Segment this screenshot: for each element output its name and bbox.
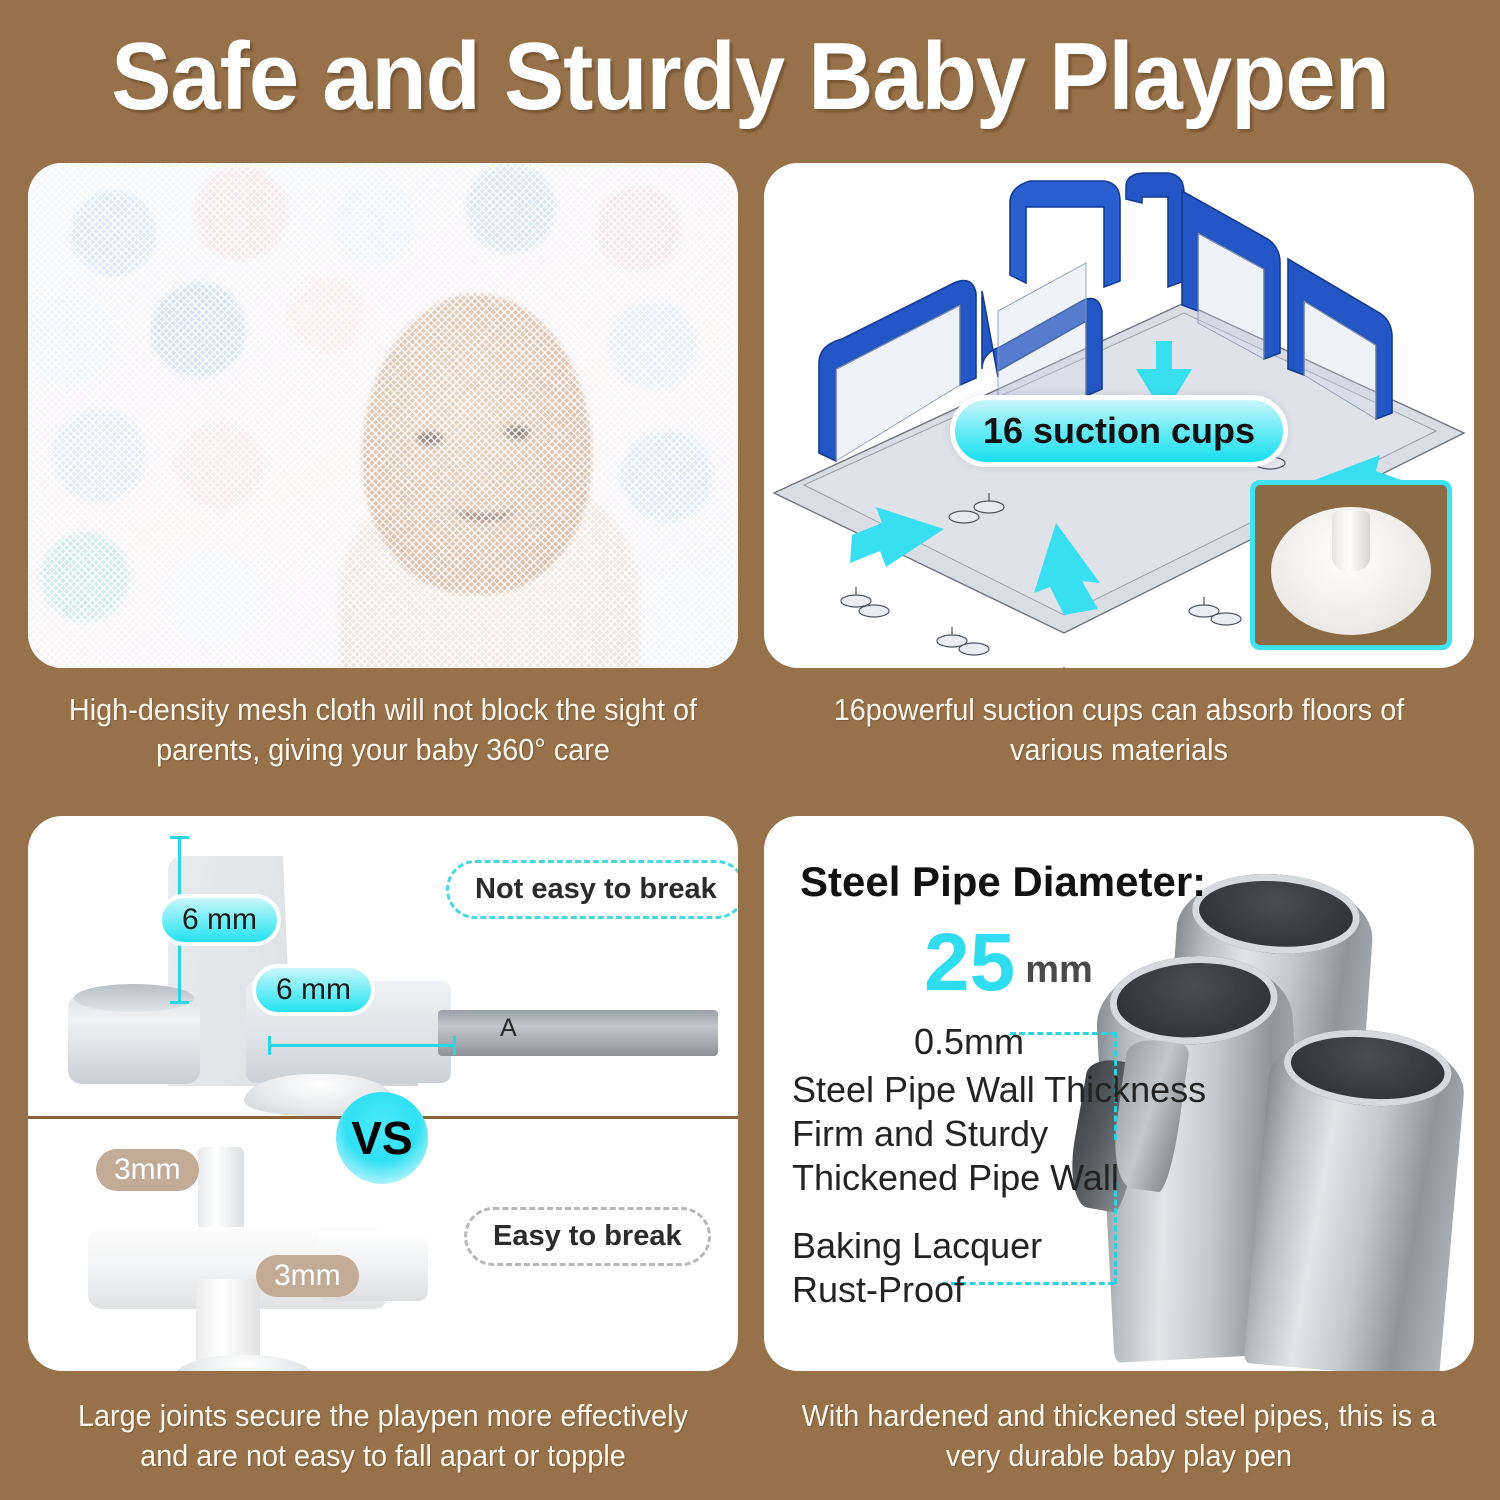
small-joint-suction-cup — [174, 1355, 314, 1371]
measure-cap-right — [453, 1036, 456, 1055]
badge-3mm-vertical: 3mm — [96, 1149, 199, 1191]
wall-thickness-value: 0.5mm — [914, 1021, 1024, 1063]
caption-suction: 16powerful suction cups can absorb floor… — [789, 690, 1449, 769]
caption-mesh: High-density mesh cloth will not block t… — [53, 690, 713, 769]
measure-cap-top — [170, 836, 189, 839]
small-joint-stem-top — [198, 1147, 244, 1239]
pipe-bore-front — [1281, 1023, 1455, 1112]
measure-cap-left — [268, 1036, 271, 1055]
leader-line-wall-h — [1010, 1032, 1116, 1035]
badge-3mm-horizontal: 3mm — [256, 1255, 359, 1297]
finish-line-2: Rust-Proof — [792, 1268, 1042, 1312]
diameter-value-row: 25 mm — [924, 924, 1093, 1002]
steel-pipe-segment: A — [438, 1010, 718, 1056]
playpen-isometric-diagram: 16 suction cups — [764, 163, 1474, 668]
panel-mesh-photo — [28, 163, 738, 668]
vs-badge: VS — [336, 1092, 428, 1184]
badge-6mm-vertical: 6 mm — [158, 894, 281, 946]
mesh-photo-image — [28, 163, 738, 668]
steel-pipe-heading: Steel Pipe Diameter: — [800, 858, 1206, 906]
large-joint-cap — [68, 994, 200, 1084]
wall-line-1: Steel Pipe Wall Thickness — [792, 1068, 1206, 1112]
pipe-bore-left — [1107, 952, 1280, 1049]
mesh-net-overlay — [28, 163, 738, 668]
measure-cap-bottom — [170, 1001, 189, 1004]
diameter-unit: mm — [1025, 949, 1093, 992]
wall-line-3: Thickened Pipe Wall — [792, 1156, 1206, 1200]
finish-line-1: Baking Lacquer — [792, 1224, 1042, 1268]
wall-line-2: Firm and Sturdy — [792, 1112, 1206, 1156]
badge-easy-to-break: Easy to break — [464, 1207, 711, 1266]
large-joint-illustration: A 6 mm 6 mm Not easy to break — [28, 816, 738, 1116]
badge-6mm-horizontal: 6 mm — [252, 964, 375, 1016]
diameter-number: 25 — [924, 924, 1015, 1002]
suction-cups-badge: 16 suction cups — [950, 395, 1288, 467]
page-title: Safe and Sturdy Baby Playpen — [45, 14, 1455, 140]
wall-description: Steel Pipe Wall Thickness Firm and Sturd… — [792, 1068, 1206, 1200]
measure-line-horizontal — [268, 1044, 456, 1047]
caption-pipes: With hardened and thickened steel pipes,… — [789, 1396, 1449, 1475]
caption-joints: Large joints secure the playpen more eff… — [53, 1396, 713, 1475]
panel-suction-diagram: 16 suction cups — [764, 163, 1474, 668]
finish-description: Baking Lacquer Rust-Proof — [792, 1224, 1042, 1312]
suction-cup-stem — [1332, 511, 1370, 571]
panel-steel-pipes: Steel Pipe Diameter: 25 mm 0.5mm Steel P… — [764, 816, 1474, 1371]
pipe-marking-a: A — [500, 1014, 517, 1043]
steel-pipe-front — [1244, 1024, 1469, 1371]
suction-cup-closeup-inset — [1250, 480, 1452, 650]
pipe-bore-back — [1189, 869, 1363, 960]
badge-not-easy-to-break: Not easy to break — [446, 860, 738, 919]
